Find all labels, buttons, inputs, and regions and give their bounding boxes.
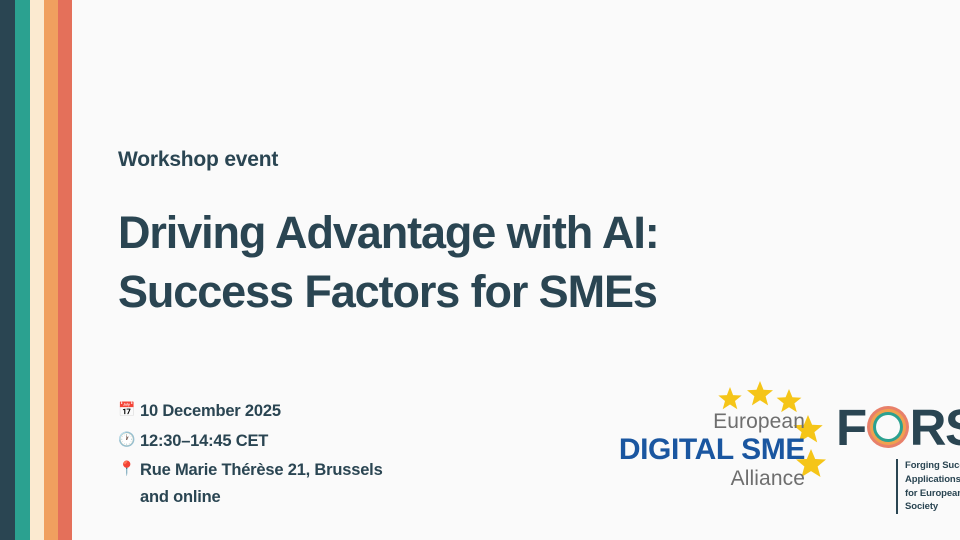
event-details: 📅 10 December 2025 🕐 12:30–14:45 CET 📍 R… — [118, 398, 458, 514]
event-slide: Workshop event Driving Advantage with AI… — [0, 0, 960, 540]
partner-logos: European DIGITAL SME Alliance F RSEE — [608, 375, 960, 503]
stripe-navy — [0, 0, 15, 540]
accent-stripes — [0, 0, 72, 540]
forsee-tagline-line-1: Forging Successful AI Applications — [905, 459, 960, 487]
event-date: 10 December 2025 — [140, 398, 281, 425]
stripe-teal — [15, 0, 30, 540]
event-type-label: Workshop event — [118, 148, 278, 172]
forsee-letters-rsee: RSEE — [910, 402, 960, 453]
forsee-tagline-line-2: for European Economy and Society — [905, 487, 960, 515]
european-digital-sme-alliance-logo: European DIGITAL SME Alliance — [608, 375, 833, 500]
stripe-red — [58, 0, 72, 540]
event-location-online: and online — [140, 484, 383, 511]
sme-line-european: European — [608, 411, 805, 433]
forsee-logo: F RSEE Forging Successful AI Application… — [836, 403, 960, 493]
event-location-address: Rue Marie Thérèse 21, Brussels — [140, 461, 383, 479]
calendar-icon: 📅 — [118, 398, 140, 420]
forsee-letter-f: F — [836, 402, 866, 453]
sme-wordmark: European DIGITAL SME Alliance — [608, 411, 805, 490]
content-area: Workshop event Driving Advantage with AI… — [118, 0, 918, 540]
event-location: Rue Marie Thérèse 21, Brussels and onlin… — [140, 457, 383, 510]
sme-line-digital-sme: DIGITAL SME — [608, 433, 805, 467]
sme-line-alliance: Alliance — [608, 467, 805, 491]
detail-row-time: 🕐 12:30–14:45 CET — [118, 428, 458, 455]
page-title: Driving Advantage with AI: Success Facto… — [118, 203, 659, 322]
stripe-orange — [44, 0, 58, 540]
forsee-tagline: Forging Successful AI Applications for E… — [896, 459, 960, 514]
ring-center — [876, 415, 900, 439]
event-time: 12:30–14:45 CET — [140, 428, 268, 455]
clock-icon: 🕐 — [118, 428, 140, 450]
forsee-wordmark: F RSEE — [836, 403, 960, 451]
location-pin-icon: 📍 — [118, 457, 140, 479]
stripe-cream — [30, 0, 44, 540]
headline-line-1: Driving Advantage with AI: — [118, 203, 659, 262]
detail-row-date: 📅 10 December 2025 — [118, 398, 458, 425]
forsee-ring-o-icon — [867, 406, 909, 448]
detail-row-location: 📍 Rue Marie Thérèse 21, Brussels and onl… — [118, 457, 458, 510]
headline-line-2: Success Factors for SMEs — [118, 262, 659, 321]
